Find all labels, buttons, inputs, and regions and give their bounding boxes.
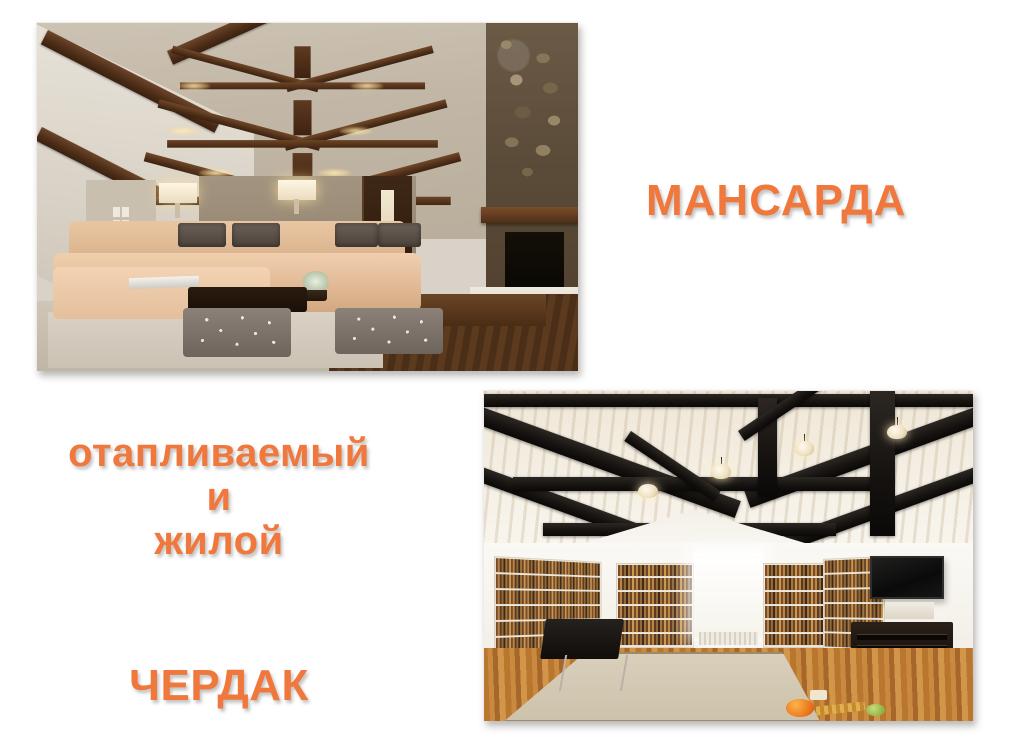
lounge-chair (540, 619, 624, 659)
secondary-title: ЧЕРДАК (24, 663, 414, 709)
bookshelf-row (618, 592, 692, 605)
plant-pot (304, 290, 327, 302)
radiator (699, 632, 758, 645)
wall-heater (885, 602, 934, 619)
wall-mounted-tv (870, 556, 943, 599)
fireplace-firebox (505, 232, 565, 295)
bookshelf-row (765, 634, 825, 647)
pendant-bulb (795, 441, 815, 455)
pendant-bulb (638, 484, 658, 498)
toy-block (810, 690, 827, 700)
niche-cell (122, 207, 129, 217)
bookshelf-row (496, 574, 600, 591)
attic-library-scene (484, 391, 973, 721)
bookshelf-row (618, 578, 692, 591)
ottoman-pouf (183, 308, 291, 357)
page-title: МАНСАРДА (646, 178, 906, 224)
ceiling-truss (172, 41, 433, 92)
bookcase (763, 563, 827, 649)
lamp-stem (294, 199, 299, 214)
pendant-light (709, 457, 733, 480)
console-shelf (857, 634, 947, 640)
chair-frame (559, 655, 628, 691)
pendant-bulb (711, 464, 731, 478)
toy-xylophone (816, 701, 866, 715)
bookshelf-row (765, 565, 825, 578)
ottoman-pouf (335, 308, 443, 353)
bookshelf-row (765, 606, 825, 619)
slide-canvas: МАНСАРДА отапливаемый и жилой ЧЕРДАК (0, 0, 1024, 741)
bookcase (616, 563, 694, 649)
bookshelf-row (496, 590, 600, 605)
lamp-shade (159, 183, 197, 203)
bookshelf-row (765, 578, 825, 591)
toys-on-floor (777, 688, 885, 718)
table-lamp (275, 180, 318, 215)
bookshelf-row (765, 620, 825, 633)
throw-pillow (232, 223, 281, 247)
throw-pillow (378, 223, 421, 247)
truss-tie-beam (167, 140, 438, 147)
recessed-light (178, 82, 210, 90)
toy-ball (786, 699, 814, 716)
throw-pillow (335, 223, 378, 247)
throw-pillow (178, 223, 227, 247)
toy-green-ball (866, 704, 885, 716)
ridge-beam (484, 394, 973, 407)
ceiling-truss (158, 94, 446, 150)
bookshelf-row (618, 634, 692, 647)
bookshelf-row (765, 592, 825, 605)
lamp-stem (175, 203, 180, 218)
fireplace-mantel (481, 207, 578, 223)
caption-block: отапливаемый и жилой (24, 432, 414, 562)
attic-living-scene (37, 23, 578, 371)
pendant-light (885, 417, 909, 440)
attic-window (694, 553, 762, 639)
truss-tie-beam (180, 82, 425, 89)
pendant-bulb (887, 425, 907, 439)
caption-line-heated: отапливаемый (24, 432, 414, 474)
bookshelf-row (618, 565, 692, 578)
pendant-light (636, 477, 660, 500)
niche-cell (113, 207, 120, 217)
caption-line-habitable: жилой (24, 520, 414, 562)
lamp-shade (278, 180, 316, 200)
table-lamp (156, 183, 199, 218)
pendant-light (792, 434, 816, 457)
king-post (870, 391, 894, 536)
recessed-light (351, 82, 383, 90)
truss-king-post (294, 46, 310, 78)
photo-attic-living-room[interactable] (36, 22, 578, 371)
bookshelf-row (618, 606, 692, 619)
photo-attic-library[interactable] (483, 390, 973, 721)
truss-king-post (293, 100, 310, 135)
bookshelf-row (824, 604, 883, 618)
caption-line-and: и (24, 476, 414, 518)
bookshelf-row (618, 620, 692, 633)
